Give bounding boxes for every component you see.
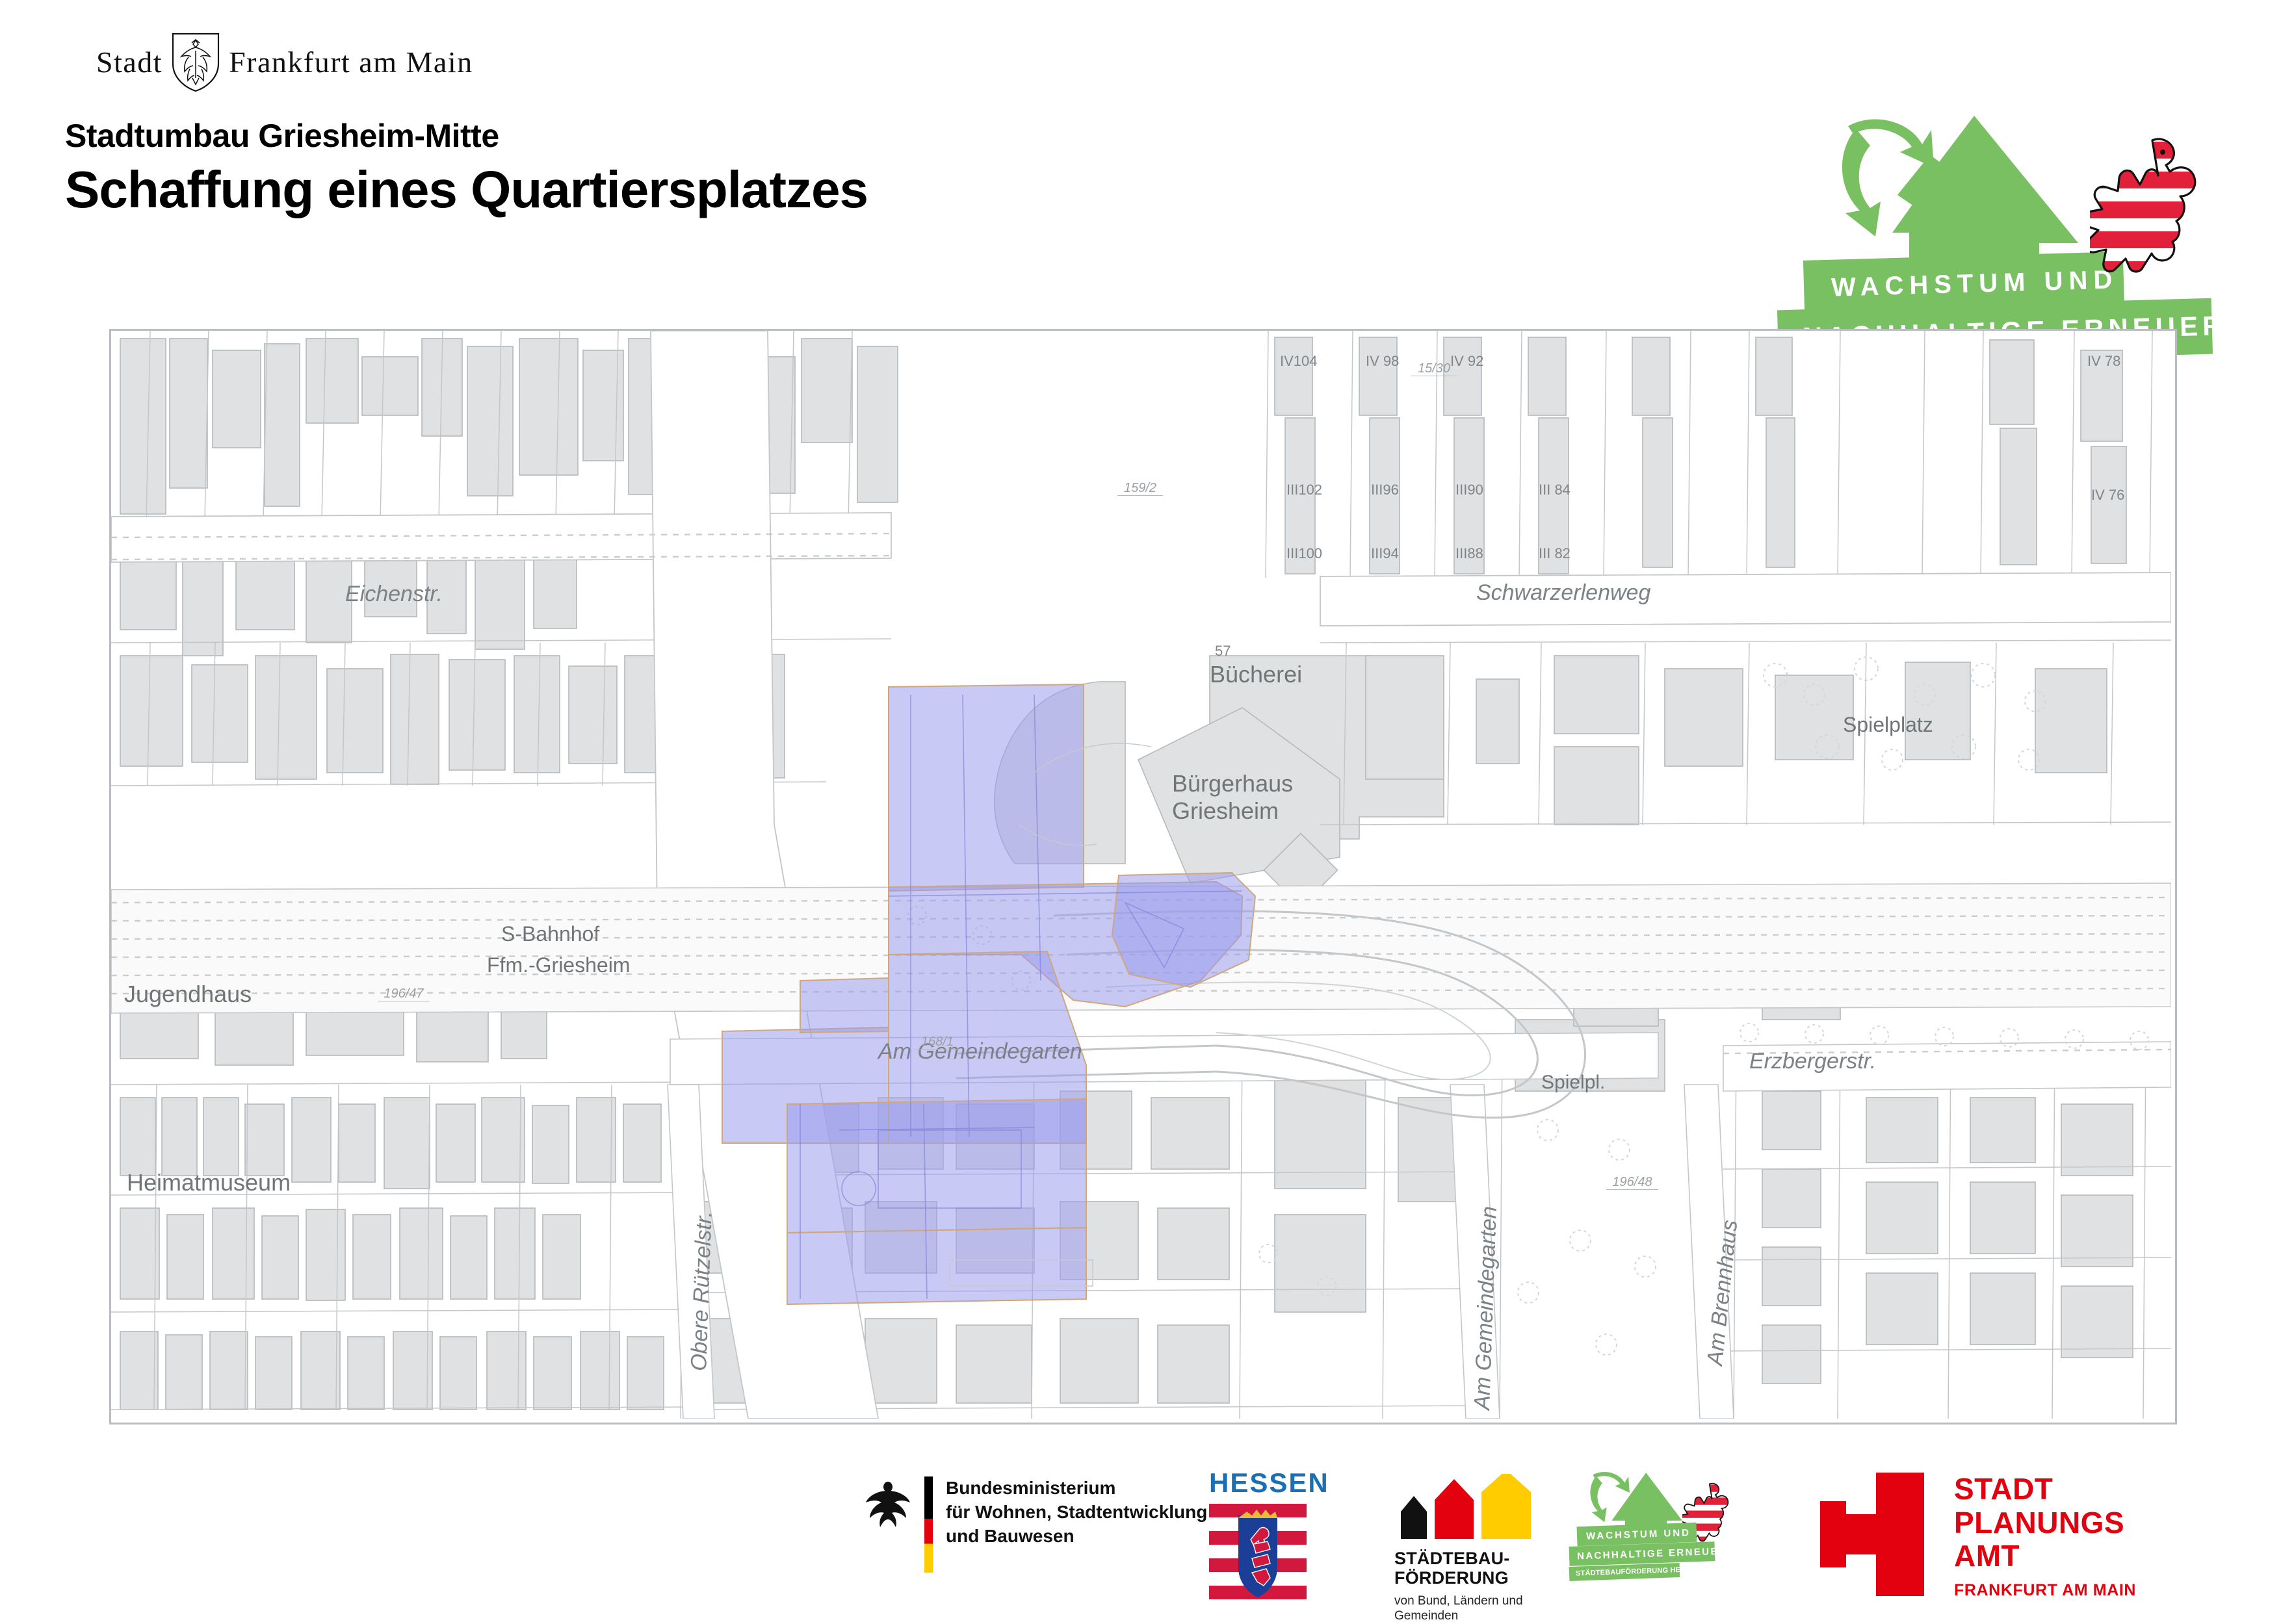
funding-logo-strip: Bundesministerium für Wohnen, Stadtentwi… xyxy=(0,1462,2281,1612)
hessen-wordmark: HESSEN xyxy=(1209,1467,1320,1499)
three-houses-icon xyxy=(1394,1474,1544,1539)
title-block: Stadtumbau Griesheim-Mitte Schaffung ein… xyxy=(65,117,868,216)
poi-label-spielpl: Spielpl. xyxy=(1541,1072,1605,1094)
staedtebaufoerderung-logo: STÄDTEBAU- FÖRDERUNG von Bund, Ländern u… xyxy=(1394,1474,1576,1624)
poi-label-spielplatz: Spielplatz xyxy=(1843,713,1933,737)
parcel-number: 15/30 xyxy=(1411,362,1457,376)
frankfurt-eagle-crest-icon xyxy=(170,31,221,92)
city-logo-word-frankfurt-am-main: Frankfurt am Main xyxy=(229,45,473,79)
bmwsb-label: Bundesministerium für Wohnen, Stadtentwi… xyxy=(946,1476,1207,1549)
poi-label-heimatmuseum: Heimatmuseum xyxy=(127,1169,291,1196)
house-number: IV 98 xyxy=(1366,353,1399,370)
house-number: III96 xyxy=(1371,482,1399,498)
housenumber-buecherei: 57 xyxy=(1215,643,1231,660)
hessen-coat-of-arms-icon xyxy=(1209,1504,1307,1601)
federal-eagle-icon xyxy=(865,1476,911,1528)
hessen-logo: HESSEN xyxy=(1209,1467,1320,1605)
hessen-lion-icon xyxy=(2090,130,2200,292)
staedtebau-title: STÄDTEBAU- FÖRDERUNG xyxy=(1394,1549,1576,1588)
parcel-number: 196/47 xyxy=(378,987,430,1001)
poi-label-s-bahnhof: S-Bahnhof xyxy=(501,922,599,946)
house-number: IV104 xyxy=(1280,353,1318,370)
house-number: IV 78 xyxy=(2087,353,2120,370)
poi-label-jugendhaus: Jugendhaus xyxy=(124,981,252,1008)
house-number: IV 76 xyxy=(2091,487,2124,504)
house-number: III 82 xyxy=(1539,545,1571,562)
city-logo-word-stadt: Stadt xyxy=(96,45,163,79)
stadtplanungsamt-mark-icon xyxy=(1820,1473,1924,1596)
house-number: III 84 xyxy=(1539,482,1571,498)
poi-label-ffm-griesheim: Ffm.-Griesheim xyxy=(487,953,630,977)
staedtebau-subtitle: von Bund, Ländern und Gemeinden xyxy=(1394,1594,1576,1624)
parcel-number: 196/48 xyxy=(1606,1176,1658,1190)
page-header: Stadt Frankfurt am Main xyxy=(0,0,2281,312)
parcel-number: 159/2 xyxy=(1117,482,1163,496)
house-number: III94 xyxy=(1371,545,1399,562)
stadtplanungsamt-text: STADT PLANUNGS AMT FRANKFURT AM MAIN xyxy=(1954,1473,2136,1600)
house-number: III90 xyxy=(1455,482,1483,498)
footer-badge-line-2: NACHHALTIGE ERNEUERUNG xyxy=(1569,1541,1715,1566)
page-subtitle: Stadtumbau Griesheim-Mitte xyxy=(65,117,868,155)
city-of-frankfurt-logo: Stadt Frankfurt am Main xyxy=(96,31,473,92)
house-number: III100 xyxy=(1286,545,1322,562)
street-label-schwarzerlenweg: Schwarzerlenweg xyxy=(1476,580,1650,606)
parcel-number: 168/1 xyxy=(915,1035,960,1050)
bmwsb-logo: Bundesministerium für Wohnen, Stadtentwi… xyxy=(865,1476,1207,1573)
street-label-am-gemeindegarten-horizontal: Am Gemeindegarten xyxy=(878,1039,1082,1064)
street-label-erzbergerstr: Erzbergerstr. xyxy=(1749,1049,1876,1074)
street-label-eichenstr: Eichenstr. xyxy=(345,582,443,607)
wachstum-erneuerung-logo-footer: WACHSTUM UND NACHHALTIGE ERNEUERUNG STÄD… xyxy=(1586,1474,1788,1597)
house-number: III88 xyxy=(1455,545,1483,562)
poi-label-buergerhaus: Bürgerhaus xyxy=(1172,770,1293,797)
cadastral-map[interactable]: Eichenstr. Schwarzerlenweg Erzbergerstr.… xyxy=(109,329,2177,1424)
german-flag-bar-icon xyxy=(924,1476,933,1573)
poi-label-buecherei: Bücherei xyxy=(1210,661,1302,688)
footer-badge-line-3: STÄDTEBAUFÖRDERUNG HESSEN xyxy=(1569,1563,1680,1581)
page-title: Schaffung eines Quartiersplatzes xyxy=(65,164,868,216)
house-number: III102 xyxy=(1286,482,1322,498)
poi-label-griesheim: Griesheim xyxy=(1172,797,1279,825)
stadtplanungsamt-logo: STADT PLANUNGS AMT FRANKFURT AM MAIN xyxy=(1820,1473,2136,1600)
